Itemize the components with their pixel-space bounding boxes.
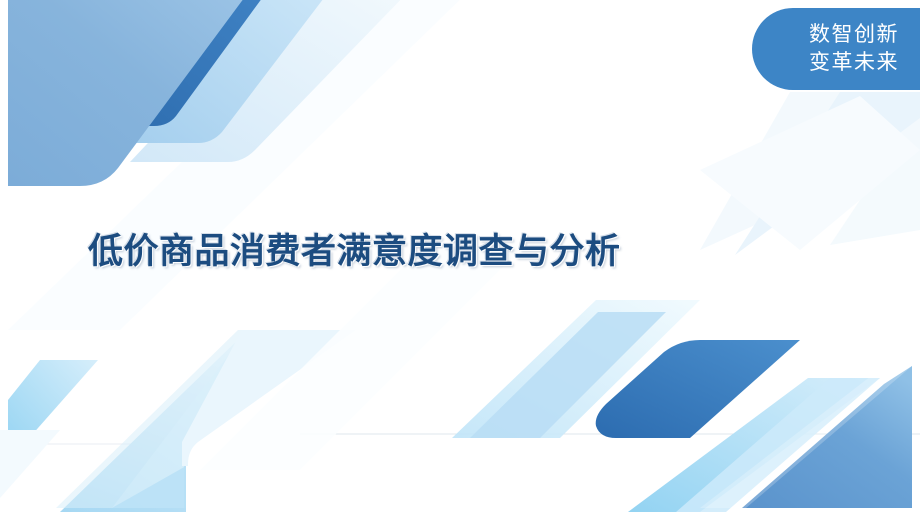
top-diagonal-stripe-dark (92, 0, 268, 126)
top-diagonal-stripe-mid (60, 0, 214, 116)
bottom-right-rounded-dark-shape (574, 330, 920, 438)
bottom-right-sky-stripe-1 (452, 300, 700, 438)
bottom-right-sky-stripe-3 (628, 378, 880, 512)
bottom-left-small-parallelogram (8, 360, 98, 462)
bottom-left-large-arrow (60, 330, 352, 512)
bottom-left-faint-wedge (0, 430, 60, 498)
bottom-left-thin-stripe (112, 466, 186, 508)
top-diagonal-stripe-faint (8, 0, 470, 330)
top-diagonal-stripe-light (132, 0, 330, 143)
bottom-right-triangle-highlight (700, 366, 912, 508)
bottom-right-dark-blob (596, 340, 800, 438)
center-pale-sheet (182, 330, 356, 466)
bottom-right-sky-stripe-4 (676, 378, 880, 512)
bottom-right-sky-stripe-2 (470, 312, 666, 438)
top-left-rounded-block (8, 0, 250, 186)
page-title: 低价商品消费者满意度调查与分析 (88, 232, 848, 272)
badge-line-2: 变革未来 (809, 49, 899, 77)
title-container: 低价商品消费者满意度调查与分析 (88, 232, 848, 272)
center-light-wedge (56, 330, 350, 508)
bottom-right-corner-triangle (770, 366, 912, 508)
upper-faint-band (200, 250, 520, 470)
top-right-faint-stripes (700, 92, 920, 255)
bottom-left-arrow-body (112, 332, 350, 508)
title-slide: 数智创新 变革未来 低价商品消费者满意度调查与分析 (0, 0, 920, 518)
corner-badge: 数智创新 变革未来 (752, 8, 920, 90)
top-diagonal-stripe-pale (130, 0, 410, 162)
badge-line-1: 数智创新 (809, 21, 899, 49)
bottom-right-corner-triangle-2 (742, 366, 912, 508)
